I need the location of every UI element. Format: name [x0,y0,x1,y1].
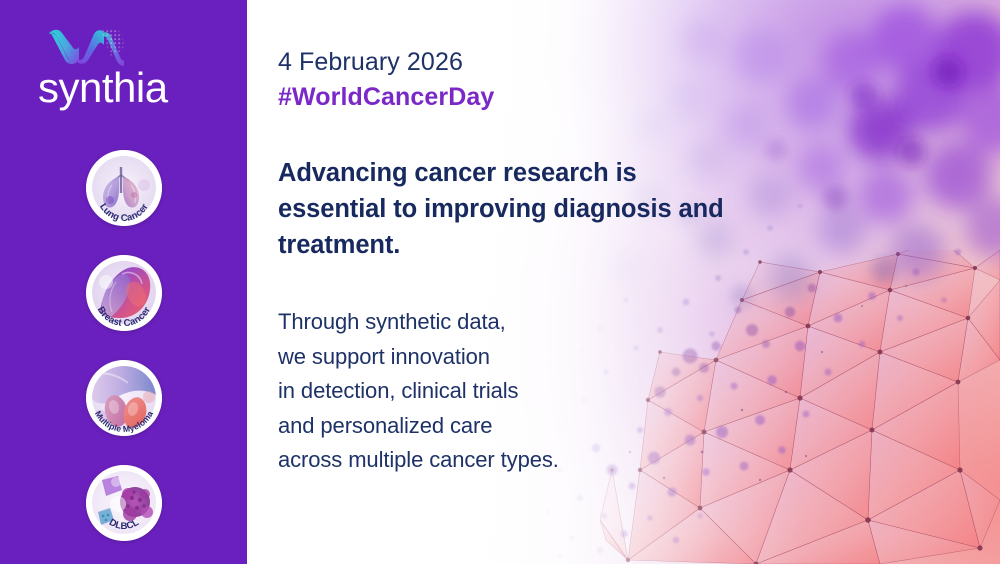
svg-text:Lung Cancer: Lung Cancer [97,202,151,224]
svg-text:Multiple Myeloma: Multiple Myeloma [92,409,154,434]
badge-text: Lung Cancer [97,202,151,224]
badge-lung-cancer[interactable]: Lung Cancer [86,150,162,226]
brand-logo[interactable]: synthia [38,26,213,110]
body-line: we support innovation [278,340,698,375]
body-line: in detection, clinical trials [278,374,698,409]
cancer-type-badge-list: Lung Cancer [0,150,247,541]
brand-sidebar: synthia [0,0,247,564]
badge-label-multiple-myeloma: Multiple Myeloma [86,360,162,436]
badge-text: Multiple Myeloma [92,409,154,434]
badge-multiple-myeloma[interactable]: Multiple Myeloma [86,360,162,436]
badge-label-lung-cancer: Lung Cancer [86,150,162,226]
body-copy: Through synthetic data, we support innov… [278,305,698,478]
body-line: and personalized care [278,409,698,444]
w-ribbon-logo-icon [46,26,124,68]
badge-text: Breast Cancer [94,305,152,329]
poster-canvas: synthia [0,0,1000,564]
badge-dlbcl[interactable]: DLBCL [86,465,162,541]
headline: Advancing cancer research is essential t… [278,155,748,263]
badge-label-breast-cancer: Breast Cancer [86,255,162,331]
badge-breast-cancer[interactable]: Breast Cancer [86,255,162,331]
brand-wordmark: synthia [38,66,213,110]
campaign-hashtag: #WorldCancerDay [278,82,494,112]
svg-text:Breast Cancer: Breast Cancer [94,305,152,329]
body-line: Through synthetic data, [278,305,698,340]
body-line: across multiple cancer types. [278,443,698,478]
badge-text: DLBCL [107,517,141,532]
svg-text:DLBCL: DLBCL [107,517,141,532]
event-date: 4 February 2026 [278,47,463,77]
poster-content: 4 February 2026 #WorldCancerDay Advancin… [247,0,1000,564]
badge-label-dlbcl: DLBCL [86,465,162,541]
